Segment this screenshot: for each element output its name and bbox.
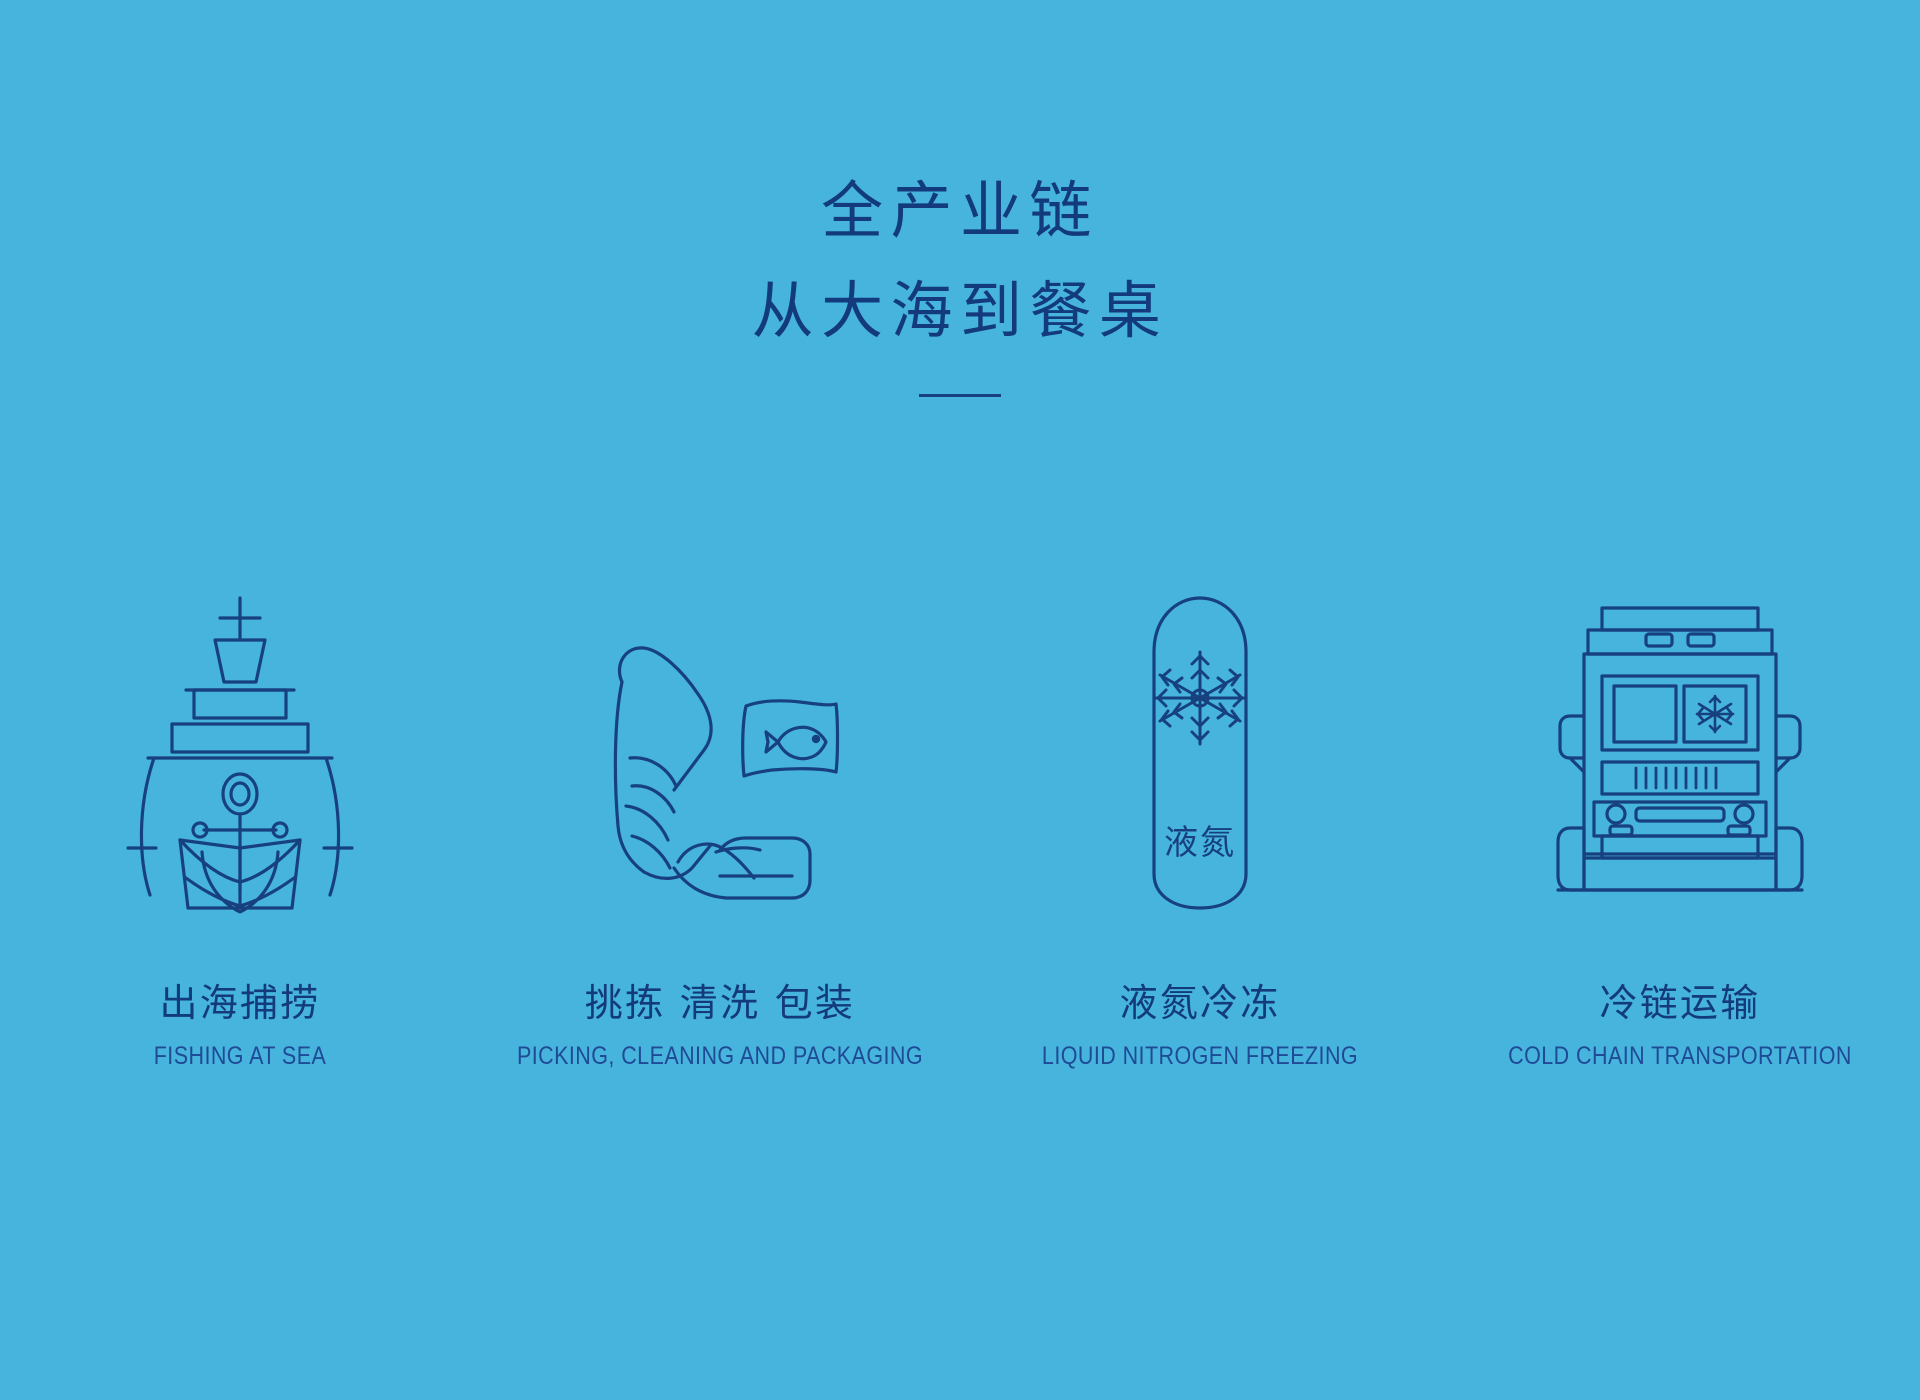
hands-fish-package-icon xyxy=(480,520,960,920)
refrigerated-truck-icon xyxy=(1440,520,1920,920)
fishing-boat-anchor-icon xyxy=(0,520,480,920)
title-divider xyxy=(919,394,1001,397)
page-title-line-2: 从大海到餐桌 xyxy=(0,280,1920,342)
step-label-cn: 挑拣 清洗 包装 xyxy=(480,980,960,1028)
step-label-cn: 出海捕捞 xyxy=(0,980,480,1028)
step-label-en: FISHING AT SEA xyxy=(34,1042,447,1071)
step-fishing-at-sea: 出海捕捞 FISHING AT SEA xyxy=(0,520,480,1071)
step-label-en: COLD CHAIN TRANSPORTATION xyxy=(1474,1042,1887,1071)
header: 全产业链 从大海到餐桌 xyxy=(0,180,1920,397)
step-label-cn: 冷链运输 xyxy=(1440,980,1920,1028)
snowflake-icon xyxy=(1697,696,1733,732)
step-label-en: PICKING, CLEANING AND PACKAGING xyxy=(514,1042,927,1071)
step-label-en: LIQUID NITROGEN FREEZING xyxy=(994,1042,1407,1071)
step-labels: 出海捕捞 FISHING AT SEA xyxy=(0,980,480,1071)
step-label-cn: 液氮冷冻 xyxy=(960,980,1440,1028)
step-liquid-nitrogen-freezing: 液氮 液氮冷冻 LIQUID NITROGEN FREEZING xyxy=(960,520,1440,1071)
liquid-nitrogen-label: 液氮 xyxy=(1164,823,1236,863)
process-steps-row: 出海捕捞 FISHING AT SEA xyxy=(0,520,1920,1071)
step-labels: 液氮冷冻 LIQUID NITROGEN FREEZING xyxy=(960,980,1440,1071)
page-title-line-1: 全产业链 xyxy=(0,180,1920,242)
step-cold-chain-transportation: 冷链运输 COLD CHAIN TRANSPORTATION xyxy=(1440,520,1920,1071)
snowflake-icon xyxy=(1156,652,1244,744)
infographic-canvas: 全产业链 从大海到餐桌 xyxy=(0,0,1920,1400)
step-labels: 冷链运输 COLD CHAIN TRANSPORTATION xyxy=(1440,980,1920,1071)
step-picking-cleaning-packaging: 挑拣 清洗 包装 PICKING, CLEANING AND PACKAGING xyxy=(480,520,960,1071)
step-labels: 挑拣 清洗 包装 PICKING, CLEANING AND PACKAGING xyxy=(480,980,960,1071)
liquid-nitrogen-freezer-icon: 液氮 xyxy=(960,520,1440,920)
